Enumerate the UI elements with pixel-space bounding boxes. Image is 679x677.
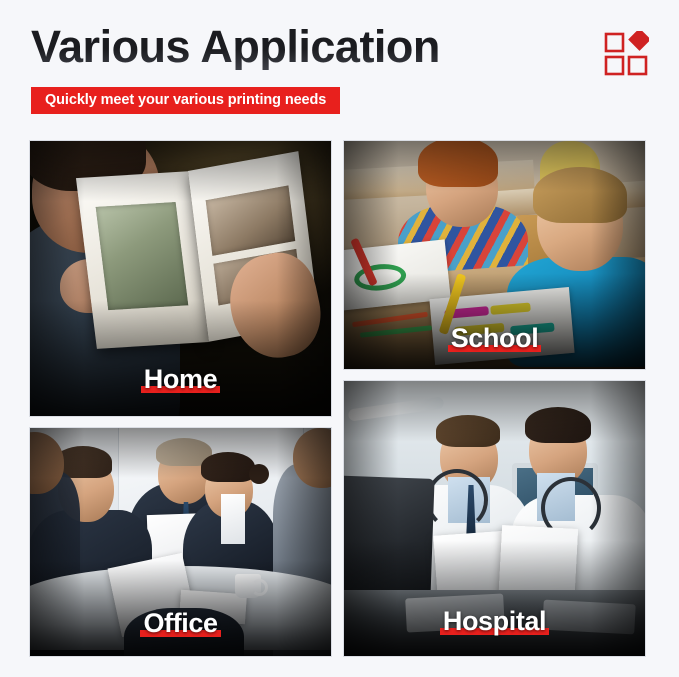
page-title: Various Application	[31, 23, 440, 70]
panel-label-text: Home	[141, 364, 220, 394]
page-header: Various Application Quickly meet your va…	[0, 0, 679, 135]
panel-label-text: Hospital	[440, 606, 549, 636]
subtitle-banner: Quickly meet your various printing needs	[31, 87, 340, 114]
panel-school[interactable]: School	[344, 141, 645, 369]
panel-office[interactable]: Office	[30, 428, 331, 656]
panel-label-text: School	[448, 323, 542, 353]
panel-home[interactable]: Home	[30, 141, 331, 416]
panel-hospital[interactable]: Hospital	[344, 381, 645, 656]
four-square-grid-logo-icon	[604, 31, 649, 76]
panel-label-text: Office	[140, 608, 220, 638]
panel-label-office: Office	[30, 608, 331, 638]
subtitle-text: Quickly meet your various printing needs	[45, 92, 326, 108]
panel-label-home: Home	[30, 364, 331, 394]
panel-label-hospital: Hospital	[344, 606, 645, 636]
panel-label-school: School	[344, 323, 645, 353]
